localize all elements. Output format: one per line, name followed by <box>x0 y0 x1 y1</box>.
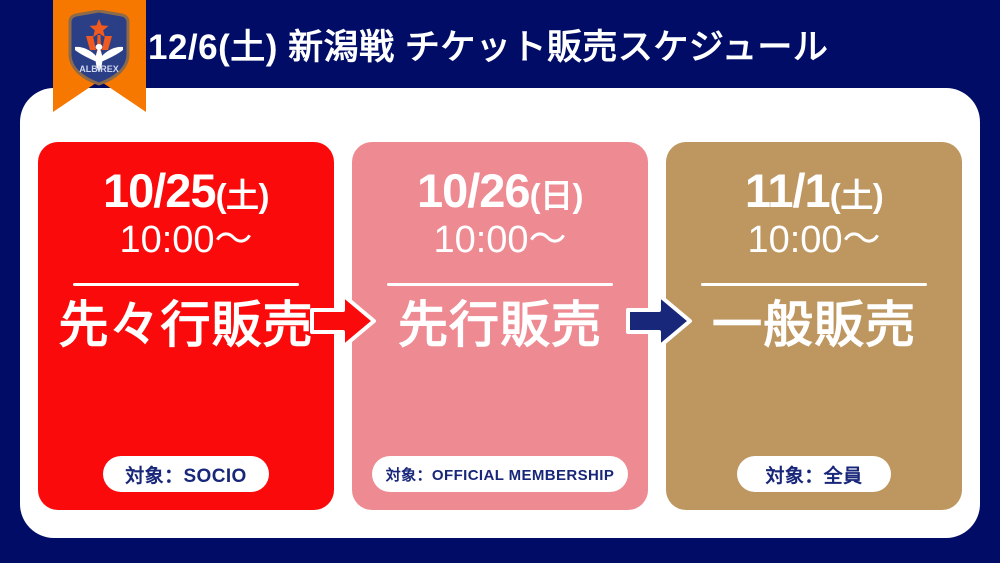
schedule-card-2[interactable]: 10/26(日) 10:00〜 先行販売 対象：OFFICIAL MEMBERS… <box>352 142 648 510</box>
schedule-card-3[interactable]: 11/1(土) 10:00〜 一般販売 対象：全員 <box>666 142 962 510</box>
card-2-sale-label: 先行販売 <box>398 298 602 352</box>
ticket-schedule-graphic: 12/6(土) 新潟戦 チケット販売スケジュール ALBIREX 10/25(土… <box>0 0 1000 563</box>
schedule-card-1[interactable]: 10/25(土) 10:00〜 先々行販売 対象：SOCIO <box>38 142 334 510</box>
card-1-divider <box>73 283 298 286</box>
card-2-divider <box>387 283 612 286</box>
card-2-time: 10:00〜 <box>433 220 566 262</box>
arrow-right-icon-1 <box>310 292 376 350</box>
card-3-date-value: 11/1 <box>745 164 830 217</box>
arrow-right-icon-2 <box>626 292 692 350</box>
card-3-time: 10:00〜 <box>747 220 880 262</box>
card-1-day-of-week: (土) <box>216 177 269 214</box>
header-bar: 12/6(土) 新潟戦 チケット販売スケジュール <box>0 0 1000 88</box>
card-2-audience-badge: 対象：OFFICIAL MEMBERSHIP <box>372 456 629 492</box>
card-3-date: 11/1(土) <box>745 166 883 216</box>
card-1-time: 10:00〜 <box>119 220 252 262</box>
club-crest-icon: ALBIREX <box>66 10 132 86</box>
card-3-day-of-week: (土) <box>830 177 883 214</box>
card-2-day-of-week: (日) <box>530 177 583 214</box>
page-title: 12/6(土) 新潟戦 チケット販売スケジュール <box>148 0 978 88</box>
card-1-audience-badge: 対象：SOCIO <box>103 456 268 492</box>
schedule-card-row: 10/25(土) 10:00〜 先々行販売 対象：SOCIO 10/26(日) … <box>38 142 962 510</box>
card-1-date-value: 10/25 <box>103 164 216 217</box>
card-3-sale-label: 一般販売 <box>712 298 916 352</box>
card-1-date: 10/25(土) <box>103 166 269 216</box>
card-3-audience-badge: 対象：全員 <box>737 456 890 492</box>
svg-text:ALBIREX: ALBIREX <box>79 64 119 74</box>
card-2-date: 10/26(日) <box>417 166 583 216</box>
card-3-divider <box>701 283 926 286</box>
card-2-date-value: 10/26 <box>417 164 530 217</box>
card-1-sale-label: 先々行販売 <box>59 298 314 352</box>
